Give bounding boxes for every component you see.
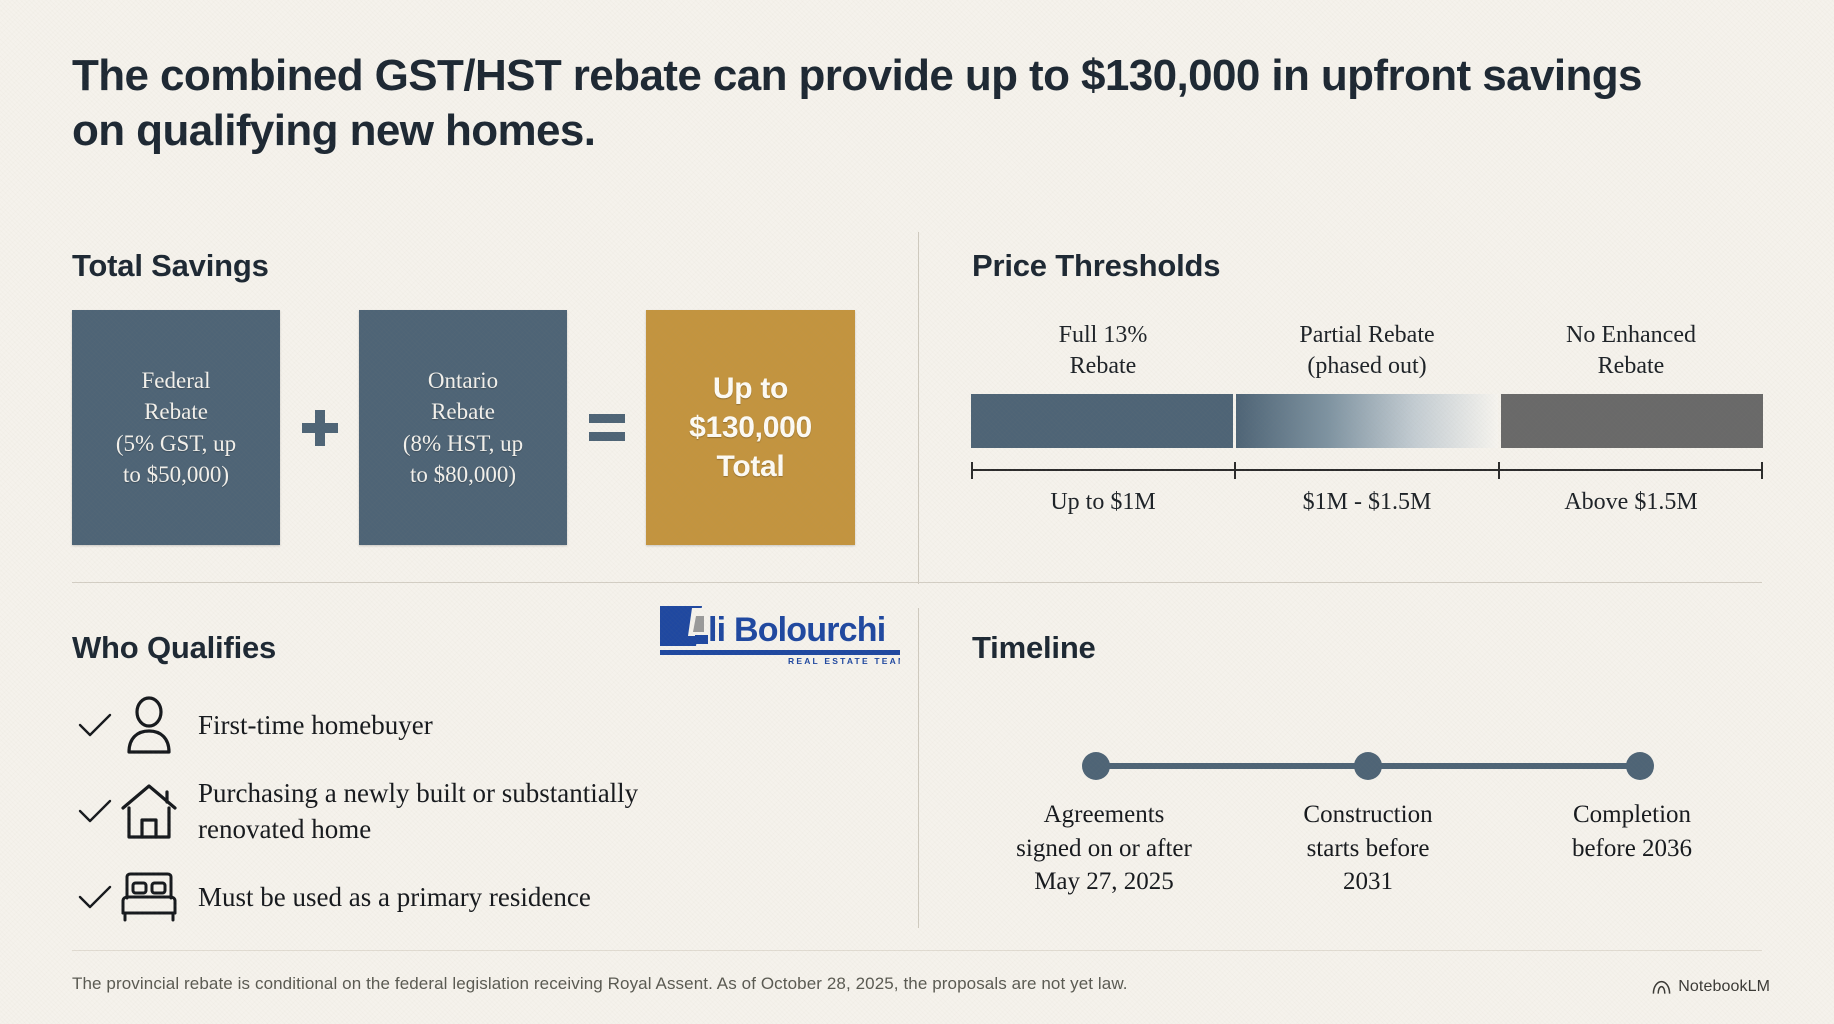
equals-operator: [567, 310, 646, 545]
qualification-list: First-time homebuyer Purchasing a newly …: [72, 686, 832, 944]
threshold-label-full: Full 13% Rebate: [971, 320, 1235, 382]
range-label-1m-15m: $1M - $1.5M: [1235, 489, 1499, 516]
total-rebate-label: Up to $130,000 Total: [689, 369, 812, 486]
timeline-label-3: Completion before 2036: [1500, 798, 1764, 899]
logo-mark: li Bolourchi REAL ESTATE TEAM: [660, 604, 900, 666]
timeline-node-2: [1354, 752, 1382, 780]
list-item: First-time homebuyer: [72, 686, 832, 764]
axis-tick-start: [971, 462, 973, 479]
timeline-track: [1082, 752, 1654, 780]
threshold-segment-full: [971, 394, 1233, 448]
threshold-labels: Full 13% Rebate Partial Rebate (phased o…: [971, 320, 1763, 382]
infographic-canvas: The combined GST/HST rebate can provide …: [0, 0, 1834, 1024]
axis-tick-1m: [1234, 462, 1236, 479]
list-item: Purchasing a newly built or substantiall…: [72, 772, 832, 850]
threshold-axis: [971, 462, 1763, 478]
range-label-above-15m: Above $1.5M: [1499, 489, 1763, 516]
vertical-divider-bottom: [918, 608, 919, 928]
brand-logo: li Bolourchi REAL ESTATE TEAM: [660, 604, 900, 666]
check-icon: [72, 884, 118, 910]
threshold-ranges: Up to $1M $1M - $1.5M Above $1.5M: [971, 489, 1763, 516]
qualification-text: Purchasing a newly built or substantiall…: [198, 775, 638, 847]
horizontal-divider: [72, 582, 1762, 583]
ontario-rebate-box: Ontario Rebate (8% HST, up to $80,000): [359, 310, 567, 545]
section-title-total-savings: Total Savings: [72, 248, 269, 284]
threshold-label-partial: Partial Rebate (phased out): [1235, 320, 1499, 382]
timeline-label-1: Agreements signed on or after May 27, 20…: [972, 798, 1236, 899]
federal-rebate-label: Federal Rebate (5% GST, up to $50,000): [116, 365, 236, 490]
axis-tick-15m: [1498, 462, 1500, 479]
federal-rebate-box: Federal Rebate (5% GST, up to $50,000): [72, 310, 280, 545]
qualification-text: Must be used as a primary residence: [198, 879, 591, 915]
price-threshold-chart: Full 13% Rebate Partial Rebate (phased o…: [971, 320, 1763, 516]
threshold-segment-none: [1501, 394, 1763, 448]
total-savings-equation: Federal Rebate (5% GST, up to $50,000) O…: [72, 310, 862, 545]
notebooklm-watermark: NotebookLM: [1652, 978, 1770, 996]
svg-text:li Bolourchi: li Bolourchi: [708, 611, 885, 649]
list-item: Must be used as a primary residence: [72, 858, 832, 936]
qualification-text: First-time homebuyer: [198, 707, 433, 743]
section-title-who-qualifies: Who Qualifies: [72, 630, 276, 666]
ontario-rebate-label: Ontario Rebate (8% HST, up to $80,000): [403, 365, 523, 490]
section-title-price-thresholds: Price Thresholds: [972, 248, 1220, 284]
notebooklm-label: NotebookLM: [1678, 978, 1770, 996]
timeline-chart: Agreements signed on or after May 27, 20…: [972, 752, 1764, 899]
footer-divider: [72, 950, 1762, 951]
total-rebate-box: Up to $130,000 Total: [646, 310, 855, 545]
svg-text:REAL ESTATE TEAM: REAL ESTATE TEAM: [788, 656, 900, 666]
axis-tick-end: [1761, 462, 1763, 479]
section-title-timeline: Timeline: [972, 630, 1096, 666]
threshold-label-none: No Enhanced Rebate: [1499, 320, 1763, 382]
bed-icon: [118, 871, 180, 923]
notebooklm-icon: [1652, 980, 1671, 995]
person-icon: [118, 696, 180, 754]
check-icon: [72, 798, 118, 824]
page-title: The combined GST/HST rebate can provide …: [72, 48, 1672, 159]
vertical-divider-top: [918, 232, 919, 584]
plus-icon: [302, 410, 338, 446]
timeline-labels: Agreements signed on or after May 27, 20…: [972, 798, 1764, 899]
timeline-label-2: Construction starts before 2031: [1236, 798, 1500, 899]
range-label-up-to-1m: Up to $1M: [971, 489, 1235, 516]
footnote: The provincial rebate is conditional on …: [72, 974, 1128, 994]
timeline-node-1: [1082, 752, 1110, 780]
threshold-segment-partial: [1236, 394, 1498, 448]
check-icon: [72, 712, 118, 738]
threshold-bar: [971, 394, 1763, 448]
axis-line: [971, 469, 1763, 471]
equals-icon: [589, 414, 625, 441]
timeline-node-3: [1626, 752, 1654, 780]
plus-operator: [280, 310, 359, 545]
house-icon: [118, 782, 180, 840]
